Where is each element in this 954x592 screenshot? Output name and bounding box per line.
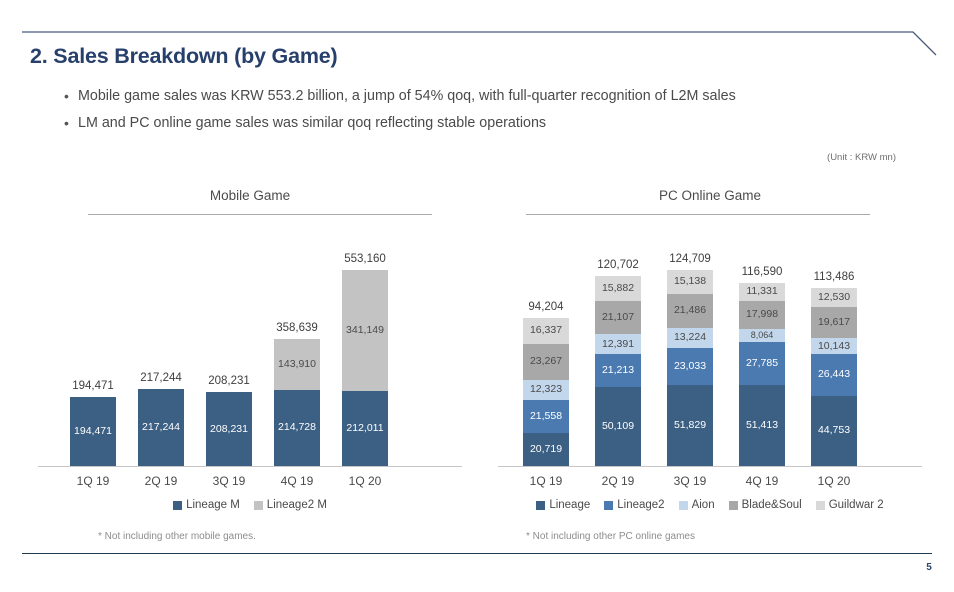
bar-stack: 50,10921,21312,39121,10715,882120,702 [595, 276, 641, 466]
bullet-list: • Mobile game sales was KRW 553.2 billio… [64, 86, 894, 140]
bar-segment: 8,064 [739, 329, 785, 342]
bullet-dot-icon: • [64, 113, 78, 133]
legend-label: Lineage M [186, 499, 240, 511]
bar-segment: 27,785 [739, 342, 785, 386]
legend-item[interactable]: Lineage2 [604, 499, 664, 511]
bar-segment: 51,829 [667, 385, 713, 466]
bottom-rule [22, 553, 932, 554]
x-axis-categories: 1Q 192Q 193Q 194Q 191Q 20 [490, 469, 930, 495]
bar-total-label: 208,231 [208, 375, 250, 387]
x-axis-line [38, 466, 462, 467]
bar-segment: 16,337 [523, 318, 569, 344]
legend-item[interactable]: Lineage2 M [254, 499, 327, 511]
bar-total-label: 553,160 [344, 253, 386, 265]
bar-stack: 44,75326,44310,14319,61712,530113,486 [811, 288, 857, 466]
bar-segment-label: 12,530 [818, 292, 850, 303]
page-number: 5 [926, 562, 932, 573]
x-axis-categories: 1Q 192Q 193Q 194Q 191Q 20 [30, 469, 470, 495]
bar-segment: 10,143 [811, 338, 857, 354]
x-axis-tick-label: 4Q 19 [746, 474, 779, 488]
bar-segment-label: 20,719 [530, 444, 562, 455]
bar-segment: 51,413 [739, 385, 785, 466]
legend-swatch-icon [729, 501, 738, 510]
bar-segment: 17,998 [739, 301, 785, 329]
bar-segment-label: 12,391 [602, 339, 634, 350]
chart-title-rule [526, 214, 870, 215]
bar-segment: 50,109 [595, 387, 641, 466]
x-axis-tick-label: 4Q 19 [281, 474, 314, 488]
bar-segment-label: 214,728 [278, 422, 316, 433]
legend-swatch-icon [254, 501, 263, 510]
x-axis-tick-label: 2Q 19 [145, 474, 178, 488]
bar-segment: 21,486 [667, 294, 713, 328]
bar-segment-label: 51,829 [674, 420, 706, 431]
chart-legend: LineageLineage2AionBlade&SoulGuildwar 2 [490, 499, 930, 511]
bar-segment-label: 12,323 [530, 384, 562, 395]
chart-plot-area: 20,71921,55812,32323,26716,33794,20450,1… [490, 223, 930, 467]
bar-segment-label: 11,331 [746, 286, 777, 297]
bar-segment-label: 19,617 [818, 317, 850, 328]
bar-segment-label: 13,224 [674, 332, 706, 343]
bar-segment-label: 23,267 [530, 356, 562, 367]
bar-segment: 20,719 [523, 433, 569, 466]
bar-segment-label: 23,033 [674, 361, 706, 372]
bar-total-label: 113,486 [814, 271, 855, 283]
bar-segment: 15,138 [667, 270, 713, 294]
unit-note: (Unit : KRW mn) [827, 152, 896, 163]
bar-segment: 143,910 [274, 339, 320, 390]
chart-plot-area: 194,471194,471217,244217,244208,231208,2… [30, 223, 470, 467]
bar-segment-label: 15,138 [674, 276, 706, 287]
slide: 2. Sales Breakdown (by Game) • Mobile ga… [0, 0, 954, 592]
bar-segment-label: 21,558 [530, 411, 562, 422]
bar-segment: 19,617 [811, 307, 857, 338]
bar-segment-label: 21,213 [602, 365, 634, 376]
bar-stack: 208,231208,231 [206, 392, 252, 466]
bar-segment: 214,728 [274, 390, 320, 466]
bar-stack: 214,728143,910358,639 [274, 339, 320, 466]
bar-segment: 13,224 [667, 328, 713, 349]
bar-total-label: 194,471 [72, 380, 114, 392]
bullet-text: LM and PC online game sales was similar … [78, 113, 546, 133]
bar-segment: 12,391 [595, 334, 641, 353]
page-title: 2. Sales Breakdown (by Game) [30, 44, 337, 69]
bar-segment: 208,231 [206, 392, 252, 466]
legend-label: Aion [692, 499, 715, 511]
bar-segment-label: 15,882 [602, 283, 634, 294]
bar-segment-label: 50,109 [602, 421, 634, 432]
bar-stack: 51,82923,03313,22421,48615,138124,709 [667, 270, 713, 466]
chart-footnote: * Not including other mobile games. [30, 531, 470, 542]
chart-panel-mobile-game: Mobile Game 194,471194,471217,244217,244… [30, 188, 470, 548]
bar-segment-label: 27,785 [746, 358, 778, 369]
bar-segment: 44,753 [811, 396, 857, 466]
bar-segment-label: 21,107 [602, 312, 634, 323]
legend-item[interactable]: Lineage M [173, 499, 240, 511]
bar-total-label: 120,702 [597, 259, 639, 271]
legend-item[interactable]: Lineage [536, 499, 590, 511]
bar-segment-label: 26,443 [818, 369, 850, 380]
bar-segment: 11,331 [739, 283, 785, 301]
legend-item[interactable]: Aion [679, 499, 715, 511]
bar-segment: 217,244 [138, 389, 184, 466]
bar-total-label: 124,709 [669, 253, 711, 265]
bar-segment: 15,882 [595, 276, 641, 301]
x-axis-tick-label: 3Q 19 [674, 474, 707, 488]
bar-segment: 21,558 [523, 400, 569, 434]
bar-segment-label: 208,231 [210, 424, 248, 435]
bar-segment: 341,149 [342, 270, 388, 391]
bar-segment: 23,033 [667, 348, 713, 384]
legend-label: Lineage2 M [267, 499, 327, 511]
bar-stack: 20,71921,55812,32323,26716,33794,204 [523, 318, 569, 466]
chart-title: Mobile Game [30, 188, 470, 208]
bar-stack: 212,011341,149553,160 [342, 270, 388, 466]
bar-segment-label: 212,011 [346, 423, 383, 434]
bar-segment: 21,107 [595, 301, 641, 334]
bar-segment: 23,267 [523, 344, 569, 381]
bullet-dot-icon: • [64, 86, 78, 106]
bar-total-label: 94,204 [528, 301, 563, 313]
bar-segment: 12,323 [523, 380, 569, 399]
bar-segment-label: 51,413 [746, 420, 778, 431]
legend-swatch-icon [679, 501, 688, 510]
legend-swatch-icon [816, 501, 825, 510]
bar-segment: 21,213 [595, 354, 641, 387]
bar-segment: 26,443 [811, 354, 857, 396]
bar-segment-label: 10,143 [818, 341, 850, 352]
legend-item[interactable]: Guildwar 2 [816, 499, 884, 511]
chart-legend: Lineage MLineage2 M [30, 499, 470, 511]
bar-segment-label: 44,753 [818, 425, 850, 436]
bar-stack: 51,41327,7858,06417,99811,331116,590 [739, 283, 785, 466]
bar-segment-label: 217,244 [142, 422, 180, 433]
legend-item[interactable]: Blade&Soul [729, 499, 802, 511]
x-axis-tick-label: 1Q 20 [818, 474, 851, 488]
x-axis-line [498, 466, 922, 467]
list-item: • Mobile game sales was KRW 553.2 billio… [64, 86, 894, 106]
bar-segment-label: 8,064 [751, 330, 774, 341]
legend-label: Lineage2 [617, 499, 664, 511]
legend-label: Lineage [549, 499, 590, 511]
bar-segment-label: 16,337 [530, 325, 562, 336]
x-axis-tick-label: 2Q 19 [602, 474, 635, 488]
legend-swatch-icon [173, 501, 182, 510]
chart-title-rule [88, 214, 432, 215]
bar-segment: 12,530 [811, 288, 857, 308]
bar-stack: 194,471194,471 [70, 397, 116, 466]
bar-total-label: 217,244 [140, 372, 182, 384]
x-axis-tick-label: 1Q 19 [77, 474, 110, 488]
bar-segment-label: 17,998 [746, 309, 778, 320]
bar-segment-label: 194,471 [74, 426, 112, 437]
chart-panel-pc-online-game: PC Online Game 20,71921,55812,32323,2671… [490, 188, 930, 548]
bar-segment-label: 21,486 [674, 305, 706, 316]
bar-segment: 212,011 [342, 391, 388, 466]
bar-segment: 194,471 [70, 397, 116, 466]
x-axis-tick-label: 1Q 19 [530, 474, 563, 488]
chart-title: PC Online Game [490, 188, 930, 208]
legend-label: Blade&Soul [742, 499, 802, 511]
bar-segment-label: 143,910 [278, 359, 316, 370]
bullet-text: Mobile game sales was KRW 553.2 billion,… [78, 86, 736, 106]
bar-total-label: 116,590 [742, 266, 783, 278]
legend-swatch-icon [604, 501, 613, 510]
bar-stack: 217,244217,244 [138, 389, 184, 466]
legend-swatch-icon [536, 501, 545, 510]
x-axis-tick-label: 3Q 19 [213, 474, 246, 488]
bar-segment-label: 341,149 [346, 325, 384, 336]
x-axis-tick-label: 1Q 20 [349, 474, 382, 488]
bar-total-label: 358,639 [276, 322, 318, 334]
list-item: • LM and PC online game sales was simila… [64, 113, 894, 133]
legend-label: Guildwar 2 [829, 499, 884, 511]
chart-footnote: * Not including other PC online games [490, 531, 930, 542]
